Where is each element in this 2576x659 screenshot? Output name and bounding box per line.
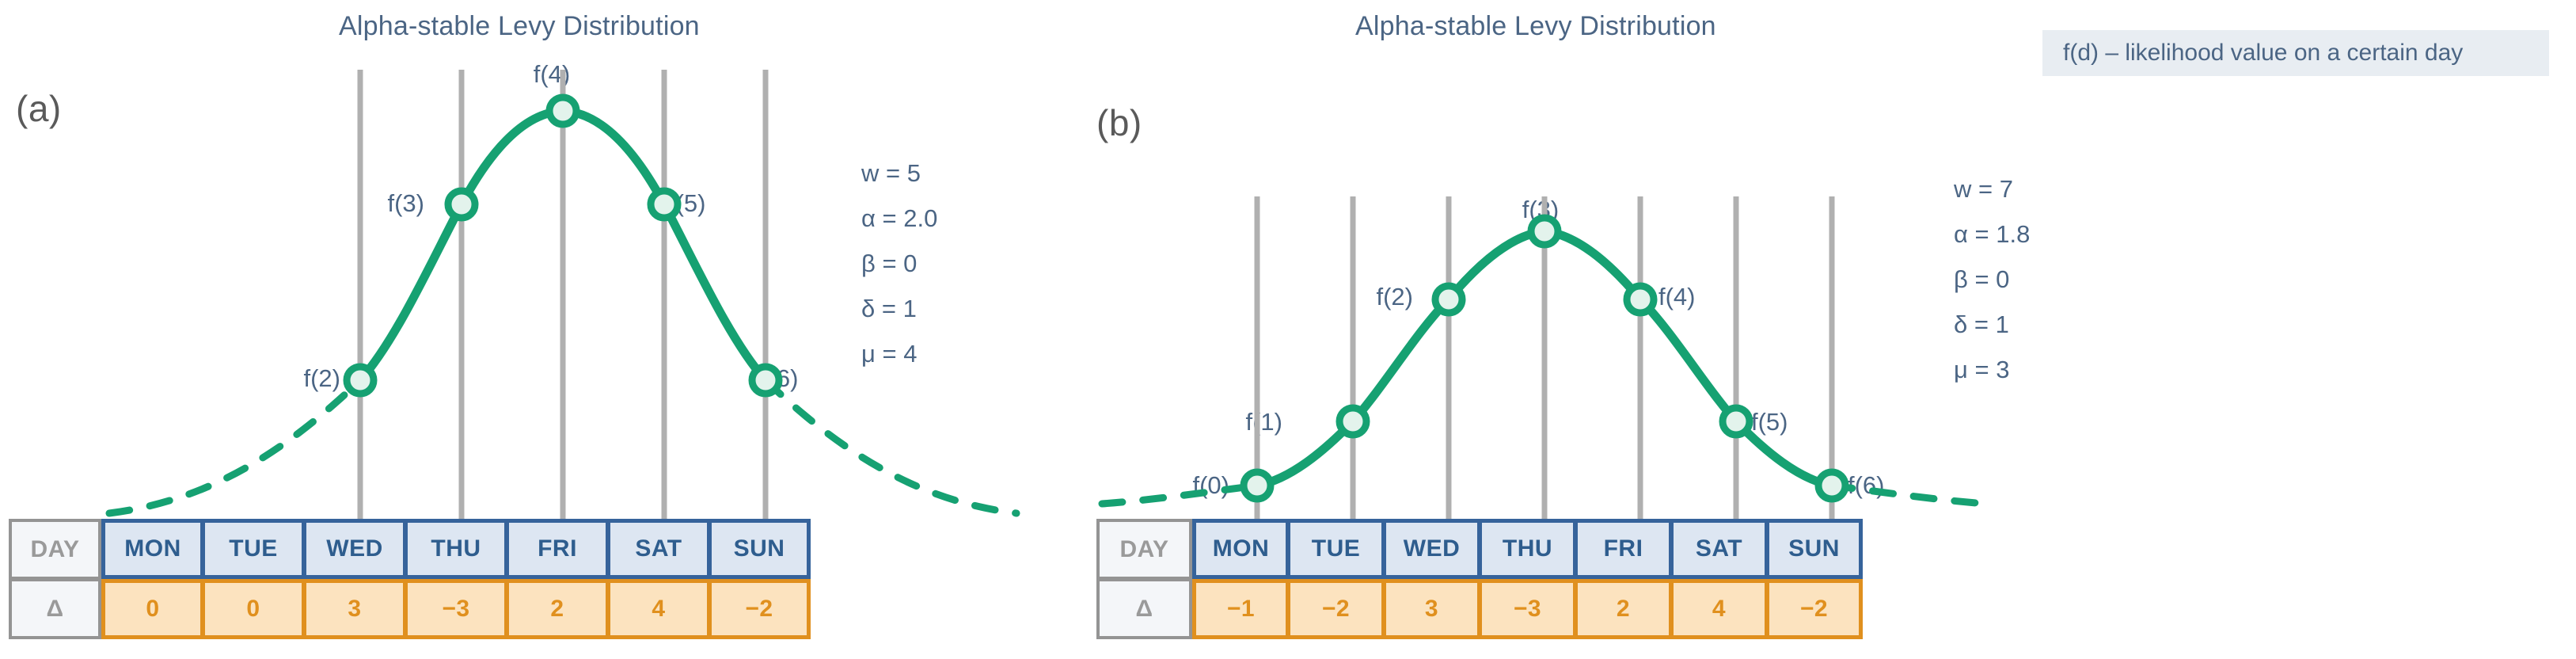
marker-f6: [1818, 472, 1845, 499]
panel-b-parameters: w = 7 α = 1.8 β = 0 δ = 1 μ = 3: [1954, 166, 2030, 392]
panel-a-right-tail: [766, 380, 1016, 513]
panel-a-day-table: DAY MON TUE WED THU FRI SAT SUN Δ 0 0 3 …: [9, 519, 811, 639]
panel-a-gridlines: [360, 70, 766, 532]
marker-f4: [549, 97, 576, 124]
day-cell-sat[interactable]: SAT: [608, 519, 709, 579]
param-beta: β = 0: [1954, 257, 2030, 302]
param-w: w = 7: [1954, 166, 2030, 211]
point-label-f4: f(4): [534, 60, 571, 89]
row-header-day: DAY: [9, 519, 101, 579]
param-mu: μ = 3: [1954, 347, 2030, 392]
delta-cell-sat[interactable]: 4: [1671, 579, 1767, 639]
day-cell-mon[interactable]: MON: [1192, 519, 1288, 579]
point-label-f3: f(3): [388, 189, 425, 218]
point-label-f5: f(5): [1751, 408, 1788, 436]
marker-f0: [1244, 472, 1271, 499]
marker-f2: [347, 367, 374, 394]
delta-cell-thu[interactable]: −3: [405, 579, 507, 639]
day-cell-tue[interactable]: TUE: [203, 519, 304, 579]
day-cell-sun[interactable]: SUN: [1767, 519, 1863, 579]
delta-cell-tue[interactable]: 0: [203, 579, 304, 639]
day-cell-sun[interactable]: SUN: [709, 519, 811, 579]
param-mu: μ = 4: [861, 331, 937, 376]
param-alpha: α = 1.8: [1954, 211, 2030, 257]
delta-cell-thu[interactable]: −3: [1480, 579, 1575, 639]
delta-cell-fri[interactable]: 2: [507, 579, 608, 639]
delta-cell-wed[interactable]: 3: [304, 579, 405, 639]
day-cell-wed[interactable]: WED: [304, 519, 405, 579]
point-label-f3: f(3): [1522, 196, 1560, 224]
day-cell-fri[interactable]: FRI: [507, 519, 608, 579]
figure-canvas: f(d) – likelihood value on a certain day…: [0, 0, 2576, 659]
legend-box: f(d) – likelihood value on a certain day: [2042, 30, 2549, 76]
point-label-f6: f(6): [1848, 471, 1885, 500]
day-cell-sat[interactable]: SAT: [1671, 519, 1767, 579]
panel-a-tag: (a): [16, 87, 62, 130]
panel-a-title: Alpha-stable Levy Distribution: [339, 11, 700, 42]
table-row-days: DAY MON TUE WED THU FRI SAT SUN: [1096, 519, 1863, 579]
panel-a-markers: [347, 97, 779, 394]
param-delta: δ = 1: [861, 286, 937, 331]
panel-b-gridlines: [1257, 196, 1832, 532]
param-alpha: α = 2.0: [861, 196, 937, 241]
panel-a-curve: [360, 111, 766, 380]
panel-b-markers: [1244, 218, 1845, 499]
marker-f4: [1627, 286, 1654, 313]
panel-b-tag: (b): [1096, 101, 1142, 144]
marker-f1: [1339, 408, 1366, 435]
day-cell-tue[interactable]: TUE: [1288, 519, 1384, 579]
panel-b-curve: [1257, 231, 1832, 486]
param-delta: δ = 1: [1954, 302, 2030, 347]
panel-a-left-tail: [109, 380, 360, 513]
panel-b-day-table: DAY MON TUE WED THU FRI SAT SUN Δ −1 −2 …: [1096, 519, 1863, 639]
delta-cell-sat[interactable]: 4: [608, 579, 709, 639]
table-row-deltas: Δ −1 −2 3 −3 2 4 −2: [1096, 579, 1863, 639]
day-cell-thu[interactable]: THU: [1480, 519, 1575, 579]
panel-b-left-tail: [1102, 486, 1257, 504]
marker-f5: [1723, 408, 1750, 435]
day-cell-fri[interactable]: FRI: [1575, 519, 1671, 579]
day-cell-thu[interactable]: THU: [405, 519, 507, 579]
param-w: w = 5: [861, 150, 937, 196]
delta-cell-fri[interactable]: 2: [1575, 579, 1671, 639]
delta-cell-wed[interactable]: 3: [1384, 579, 1480, 639]
param-beta: β = 0: [861, 241, 937, 286]
point-label-f5: f(5): [669, 189, 706, 218]
row-header-delta: Δ: [9, 579, 101, 639]
marker-f2: [1435, 286, 1462, 313]
row-header-day: DAY: [1096, 519, 1192, 579]
point-label-f1: f(1): [1246, 408, 1283, 436]
delta-cell-mon[interactable]: −1: [1192, 579, 1288, 639]
point-label-f2: f(2): [1377, 283, 1414, 311]
point-label-f6: f(6): [762, 364, 799, 393]
delta-cell-sun[interactable]: −2: [709, 579, 811, 639]
row-header-delta: Δ: [1096, 579, 1192, 639]
delta-cell-tue[interactable]: −2: [1288, 579, 1384, 639]
delta-cell-mon[interactable]: 0: [101, 579, 203, 639]
marker-f3: [448, 191, 475, 218]
table-row-deltas: Δ 0 0 3 −3 2 4 −2: [9, 579, 811, 639]
day-cell-wed[interactable]: WED: [1384, 519, 1480, 579]
table-row-days: DAY MON TUE WED THU FRI SAT SUN: [9, 519, 811, 579]
panel-a-parameters: w = 5 α = 2.0 β = 0 δ = 1 μ = 4: [861, 150, 937, 376]
delta-cell-sun[interactable]: −2: [1767, 579, 1863, 639]
legend-label: f(d) – likelihood value on a certain day: [2063, 40, 2463, 67]
day-cell-mon[interactable]: MON: [101, 519, 203, 579]
point-label-f2: f(2): [304, 364, 341, 393]
point-label-f0: f(0): [1193, 471, 1230, 500]
point-label-f4: f(4): [1658, 283, 1696, 311]
panel-b-title: Alpha-stable Levy Distribution: [1355, 11, 1716, 42]
